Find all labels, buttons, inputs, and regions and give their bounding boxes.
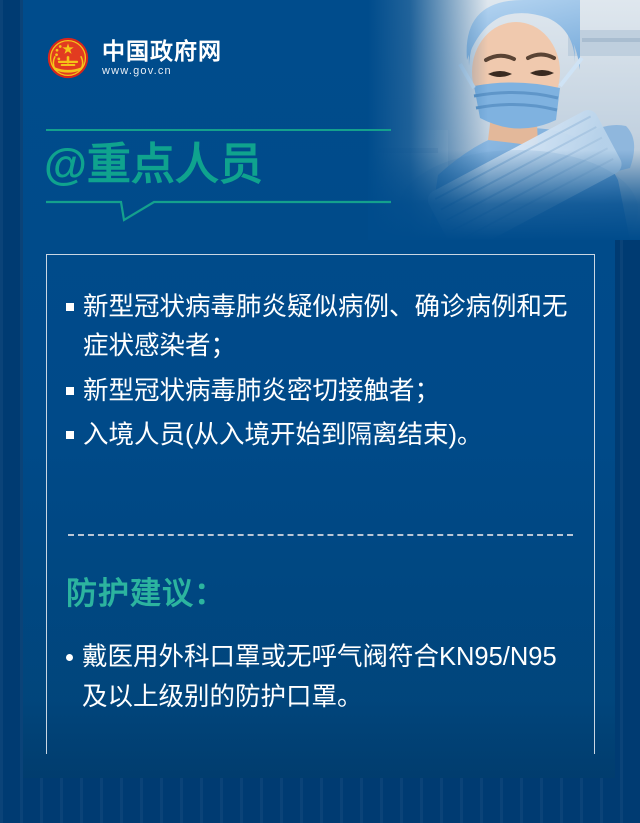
square-bullet-icon [66,431,74,439]
section-divider [68,534,573,536]
advice-heading: 防护建议： [66,575,226,612]
photo-bottom-fade [368,150,640,240]
list-item: 新型冠状病毒肺炎密切接触者； [66,372,581,411]
list-item-text: 新型冠状病毒肺炎疑似病例、确诊病例和无症状感染者； [83,288,581,366]
site-brand: 中国政府网 www.gov.cn [102,39,222,76]
medical-worker-photo [368,0,640,240]
page-title: @重点人员 [44,140,263,191]
list-item: 戴医用外科口罩或无呼气阀符合KN95/N95及以上级别的防护口罩。 [66,638,581,717]
title-top-rule [46,129,391,131]
advice-list: 戴医用外科口罩或无呼气阀符合KN95/N95及以上级别的防护口罩。 [66,638,581,717]
list-item: 入境人员(从入境开始到隔离结束)。 [66,416,581,455]
list-item-text: 戴医用外科口罩或无呼气阀符合KN95/N95及以上级别的防护口罩。 [82,638,581,717]
site-name: 中国政府网 [102,39,222,63]
list-item-text: 新型冠状病毒肺炎密切接触者； [83,372,581,411]
list-item-text: 入境人员(从入境开始到隔离结束)。 [83,416,581,455]
square-bullet-icon [66,303,74,311]
site-header: 中国政府网 www.gov.cn [46,36,222,80]
title-speech-tail [46,196,391,226]
square-bullet-icon [66,387,74,395]
poster-root: 中国政府网 www.gov.cn @重点人员 新型冠状病毒肺炎疑似病例、确诊病例… [0,0,640,823]
list-item: 新型冠状病毒肺炎疑似病例、确诊病例和无症状感染者； [66,288,581,366]
site-url: www.gov.cn [102,66,222,77]
dot-bullet-icon [66,654,73,661]
target-group-list: 新型冠状病毒肺炎疑似病例、确诊病例和无症状感染者； 新型冠状病毒肺炎密切接触者；… [66,288,581,461]
china-national-emblem-icon [46,36,90,80]
